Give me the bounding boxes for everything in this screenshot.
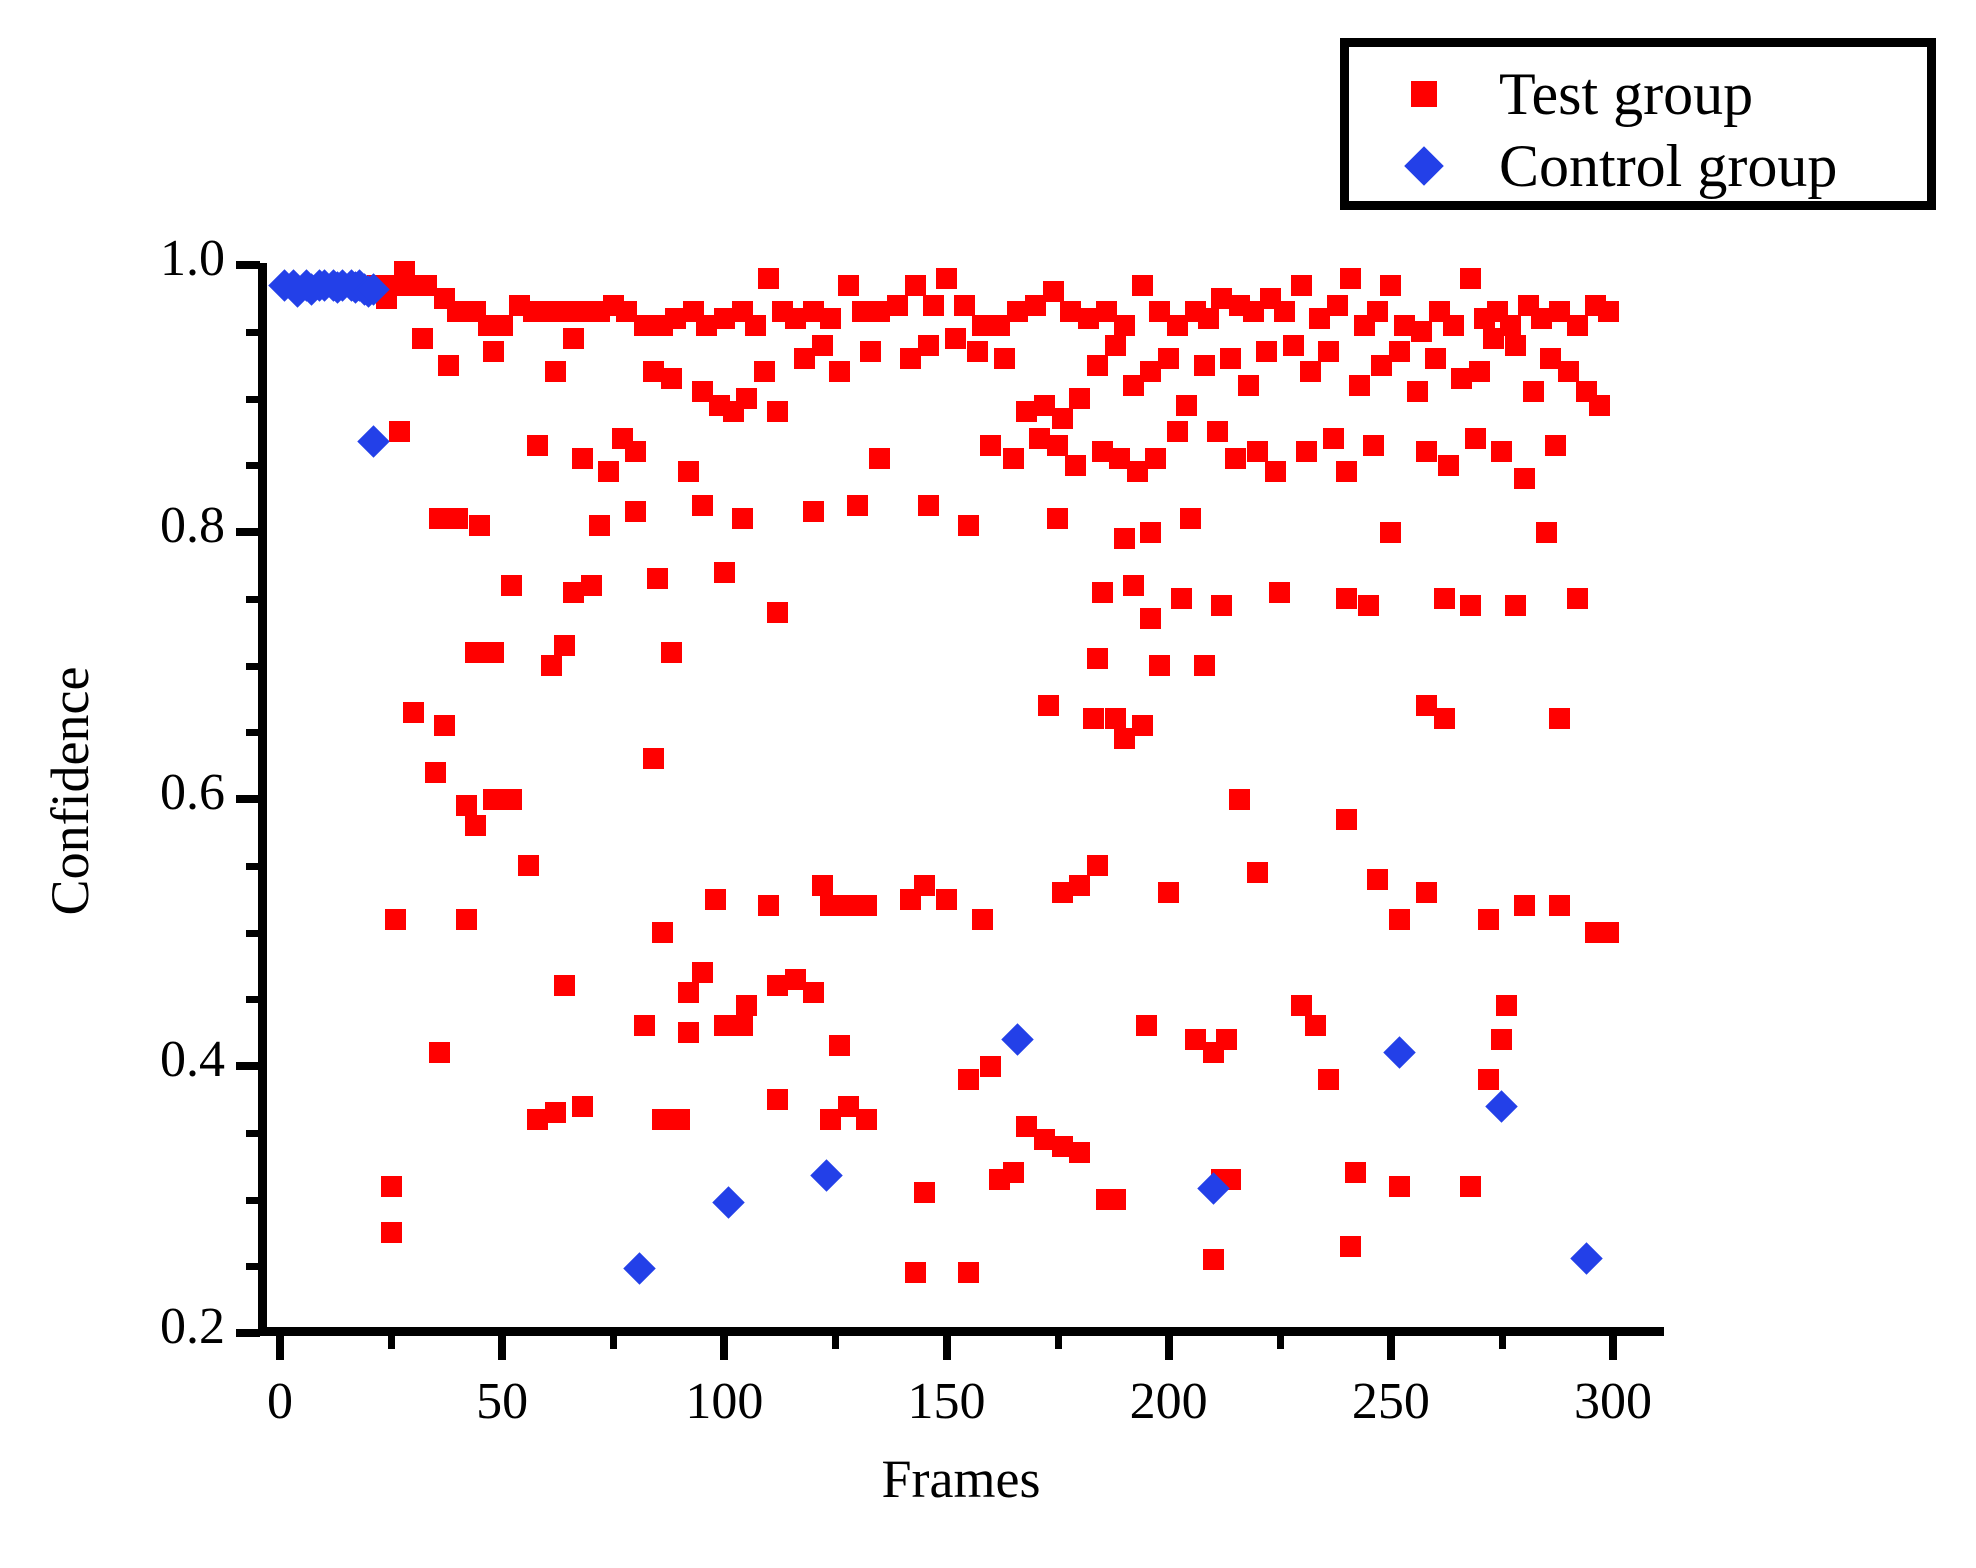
data-point-test-group (581, 575, 602, 596)
data-point-test-group (856, 895, 877, 916)
data-point-test-group (1038, 695, 1059, 716)
data-point-test-group (598, 461, 619, 482)
data-point-test-group (456, 909, 477, 930)
data-point-test-group (678, 461, 699, 482)
data-point-test-group (1291, 275, 1312, 296)
data-point-test-group (1296, 441, 1317, 462)
data-point-test-group (1434, 708, 1455, 729)
data-point-test-group (1469, 361, 1490, 382)
data-point-test-group (1340, 268, 1361, 289)
data-point-test-group (1194, 355, 1215, 376)
data-point-test-group (958, 515, 979, 536)
data-point-test-group (1389, 1176, 1410, 1197)
data-point-test-group (1256, 341, 1277, 362)
data-point-test-group (1367, 869, 1388, 890)
data-point-test-group (1438, 455, 1459, 476)
data-point-test-group (1496, 995, 1517, 1016)
data-point-test-group (434, 715, 455, 736)
data-point-test-group (1380, 522, 1401, 543)
data-point-test-group (1047, 435, 1068, 456)
data-point-test-group (1247, 441, 1268, 462)
data-point-test-group (829, 1035, 850, 1056)
data-point-test-group (767, 401, 788, 422)
data-point-test-group (1269, 582, 1290, 603)
data-point-test-group (1416, 441, 1437, 462)
data-point-test-group (643, 748, 664, 769)
data-point-test-group (869, 448, 890, 469)
data-point-test-group (501, 789, 522, 810)
data-point-test-group (1465, 428, 1486, 449)
x-tick-label: 0 (170, 1372, 390, 1431)
data-point-test-group (469, 515, 490, 536)
data-point-test-group (1083, 708, 1104, 729)
y-tick-minor (246, 329, 260, 336)
data-point-test-group (994, 348, 1015, 369)
data-point-test-group (1167, 421, 1188, 442)
x-tick-major (1609, 1334, 1617, 1360)
data-point-test-group (1549, 708, 1570, 729)
data-point-test-group (1505, 595, 1526, 616)
legend-square-marker-icon (1349, 81, 1499, 107)
data-point-test-group (1363, 435, 1384, 456)
y-tick-major (236, 528, 260, 536)
data-point-test-group (1158, 348, 1179, 369)
data-point-test-group (492, 315, 513, 336)
x-tick-minor (832, 1334, 839, 1349)
data-point-test-group (652, 922, 673, 943)
y-axis-title: Confidence (39, 551, 101, 1031)
data-point-test-group (1211, 595, 1232, 616)
data-point-test-group (1460, 595, 1481, 616)
data-point-test-group (1505, 335, 1526, 356)
data-point-test-group (745, 315, 766, 336)
x-tick-label: 150 (837, 1372, 1057, 1431)
data-point-test-group (1283, 335, 1304, 356)
x-axis-title: Frames (258, 1448, 1664, 1510)
y-tick-minor (246, 1263, 260, 1270)
data-point-test-group (1536, 522, 1557, 543)
data-point-test-group (812, 335, 833, 356)
data-point-test-group (412, 328, 433, 349)
data-point-test-group (381, 1176, 402, 1197)
data-point-test-group (1247, 862, 1268, 883)
data-point-test-group (1194, 655, 1215, 676)
data-point-test-group (647, 568, 668, 589)
data-point-test-group (1389, 909, 1410, 930)
plot-area (258, 265, 1662, 1333)
data-point-test-group (754, 361, 775, 382)
data-point-test-group (905, 1262, 926, 1283)
data-point-test-group (1171, 588, 1192, 609)
data-point-test-group (1087, 648, 1108, 669)
data-point-test-group (812, 875, 833, 896)
data-point-test-group (1389, 341, 1410, 362)
data-point-test-group (518, 855, 539, 876)
data-point-test-group (1105, 1189, 1126, 1210)
y-tick-minor (246, 396, 260, 403)
x-tick-label: 200 (1059, 1372, 1279, 1431)
data-point-test-group (661, 368, 682, 389)
data-point-test-group (1105, 708, 1126, 729)
data-point-test-group (767, 1089, 788, 1110)
data-point-test-group (1336, 809, 1357, 830)
data-point-test-group (860, 341, 881, 362)
data-point-test-group (1407, 381, 1428, 402)
data-point-test-group (678, 1022, 699, 1043)
data-point-test-group (1043, 281, 1064, 302)
data-point-test-group (1434, 588, 1455, 609)
data-point-test-group (545, 361, 566, 382)
data-point-test-group (1598, 301, 1619, 322)
data-point-test-group (732, 508, 753, 529)
data-point-test-group (1380, 275, 1401, 296)
data-point-test-group (1003, 1162, 1024, 1183)
data-point-test-group (1523, 381, 1544, 402)
data-point-test-group (1158, 882, 1179, 903)
data-point-test-group (1220, 348, 1241, 369)
data-point-test-group (381, 1222, 402, 1243)
legend: Test group Control group (1340, 38, 1936, 210)
data-point-test-group (1567, 315, 1588, 336)
data-point-test-group (1411, 321, 1432, 342)
data-point-test-group (1114, 528, 1135, 549)
data-point-test-group (829, 361, 850, 382)
data-point-test-group (803, 982, 824, 1003)
legend-label-test-group: Test group (1499, 60, 1753, 129)
data-point-test-group (918, 335, 939, 356)
data-point-control-group (810, 1159, 843, 1192)
data-point-test-group (1478, 909, 1499, 930)
data-point-test-group (838, 275, 859, 296)
x-tick-major (943, 1334, 951, 1360)
data-point-control-group (624, 1253, 657, 1286)
data-point-test-group (1318, 1069, 1339, 1090)
data-point-test-group (1087, 355, 1108, 376)
y-tick-label: 0.6 (0, 763, 225, 822)
data-point-test-group (1274, 301, 1295, 322)
data-point-test-group (905, 275, 926, 296)
data-point-test-group (554, 975, 575, 996)
data-point-test-group (1145, 448, 1166, 469)
data-point-test-group (1545, 435, 1566, 456)
data-point-test-group (736, 995, 757, 1016)
x-tick-minor (1499, 1334, 1506, 1349)
data-point-test-group (980, 435, 1001, 456)
data-point-test-group (1136, 1015, 1157, 1036)
data-point-test-group (1198, 308, 1219, 329)
data-point-test-group (1069, 388, 1090, 409)
data-point-test-group (936, 268, 957, 289)
x-tick-major (1165, 1334, 1173, 1360)
y-tick-label: 0.4 (0, 1030, 225, 1089)
data-point-test-group (501, 575, 522, 596)
data-point-test-group (1425, 348, 1446, 369)
data-point-test-group (1558, 361, 1579, 382)
x-tick-major (276, 1334, 284, 1360)
data-point-test-group (958, 1069, 979, 1090)
data-point-test-group (589, 515, 610, 536)
x-tick-minor (1277, 1334, 1284, 1349)
data-point-test-group (1065, 455, 1086, 476)
y-tick-label: 0.2 (0, 1297, 225, 1356)
data-point-test-group (456, 795, 477, 816)
y-tick-minor (246, 930, 260, 937)
data-point-test-group (1216, 1029, 1237, 1050)
data-point-test-group (1491, 1029, 1512, 1050)
data-point-test-group (736, 388, 757, 409)
y-tick-minor (246, 462, 260, 469)
data-point-control-group (1383, 1036, 1416, 1069)
data-point-test-group (1514, 895, 1535, 916)
data-point-test-group (385, 909, 406, 930)
data-point-test-group (1132, 715, 1153, 736)
data-point-test-group (914, 875, 935, 896)
data-point-test-group (967, 341, 988, 362)
x-tick-label: 50 (392, 1372, 612, 1431)
x-tick-minor (388, 1334, 395, 1349)
data-point-test-group (678, 982, 699, 1003)
data-point-test-group (1549, 895, 1570, 916)
data-point-test-group (1318, 341, 1339, 362)
data-point-test-group (1123, 575, 1144, 596)
data-point-test-group (1092, 582, 1113, 603)
x-tick-minor (1055, 1334, 1062, 1349)
data-point-test-group (1567, 588, 1588, 609)
data-point-test-group (1003, 448, 1024, 469)
data-point-test-group (1349, 375, 1370, 396)
data-point-test-group (425, 762, 446, 783)
data-point-test-group (714, 562, 735, 583)
data-point-test-group (1478, 1069, 1499, 1090)
y-tick-minor (246, 1197, 260, 1204)
data-point-test-group (1225, 448, 1246, 469)
data-point-test-group (758, 268, 779, 289)
data-point-test-group (572, 1096, 593, 1117)
data-point-test-group (625, 501, 646, 522)
data-point-control-group (1001, 1023, 1034, 1056)
data-point-test-group (1358, 595, 1379, 616)
y-tick-minor (246, 1130, 260, 1137)
data-point-test-group (1336, 588, 1357, 609)
data-point-test-group (563, 328, 584, 349)
data-point-test-group (958, 1262, 979, 1283)
data-point-test-group (625, 441, 646, 462)
data-point-test-group (1291, 995, 1312, 1016)
data-point-test-group (1327, 295, 1348, 316)
data-point-test-group (527, 435, 548, 456)
data-point-test-group (1460, 1176, 1481, 1197)
data-point-test-group (923, 295, 944, 316)
data-point-test-group (1345, 1162, 1366, 1183)
legend-diamond-marker-icon (1349, 152, 1499, 180)
data-point-test-group (1300, 361, 1321, 382)
x-tick-major (720, 1334, 728, 1360)
data-point-test-group (692, 495, 713, 516)
data-point-test-group (1491, 441, 1512, 462)
data-point-test-group (1114, 315, 1135, 336)
data-point-test-group (732, 1015, 753, 1036)
data-point-test-group (1340, 1236, 1361, 1257)
y-tick-minor (246, 596, 260, 603)
data-point-test-group (936, 889, 957, 910)
data-point-test-group (705, 889, 726, 910)
data-point-test-group (692, 962, 713, 983)
data-point-test-group (1105, 335, 1126, 356)
data-point-test-group (1140, 522, 1161, 543)
data-point-test-group (1589, 395, 1610, 416)
data-point-test-group (1443, 315, 1464, 336)
y-tick-major (236, 1062, 260, 1070)
data-point-test-group (945, 328, 966, 349)
data-point-test-group (1598, 922, 1619, 943)
data-point-test-group (1265, 461, 1286, 482)
y-tick-minor (246, 863, 260, 870)
y-tick-major (236, 795, 260, 803)
data-point-test-group (1140, 608, 1161, 629)
data-point-test-group (389, 421, 410, 442)
data-point-test-group (545, 1102, 566, 1123)
data-point-test-group (1305, 1015, 1326, 1036)
data-point-test-group (847, 495, 868, 516)
data-point-test-group (447, 508, 468, 529)
data-point-test-group (820, 308, 841, 329)
data-point-test-group (1180, 508, 1201, 529)
data-point-test-group (1238, 375, 1259, 396)
data-point-test-group (1047, 508, 1068, 529)
data-point-test-group (483, 341, 504, 362)
data-point-test-group (767, 602, 788, 623)
legend-entry-test-group: Test group (1349, 55, 1927, 133)
data-point-test-group (1149, 655, 1170, 676)
y-tick-label: 1.0 (0, 229, 225, 288)
data-point-test-group (887, 295, 908, 316)
data-point-test-group (856, 1109, 877, 1130)
data-point-test-group (541, 655, 562, 676)
data-point-test-group (1483, 328, 1504, 349)
data-point-test-group (483, 642, 504, 663)
data-point-test-group (438, 355, 459, 376)
x-tick-major (1387, 1334, 1395, 1360)
x-tick-major (498, 1334, 506, 1360)
data-point-test-group (1416, 882, 1437, 903)
data-point-test-group (465, 815, 486, 836)
x-tick-label: 300 (1503, 1372, 1723, 1431)
data-point-test-group (1514, 468, 1535, 489)
data-point-test-group (1132, 275, 1153, 296)
data-point-control-group (357, 425, 390, 458)
legend-entry-control-group: Control group (1349, 127, 1927, 205)
x-axis-line (258, 1327, 1664, 1336)
y-tick-major (236, 261, 260, 269)
data-point-control-group (1486, 1090, 1519, 1123)
data-point-test-group (972, 909, 993, 930)
y-tick-minor (246, 663, 260, 670)
data-point-test-group (572, 448, 593, 469)
data-point-test-group (661, 642, 682, 663)
data-point-test-group (1069, 1142, 1090, 1163)
data-point-test-group (1336, 461, 1357, 482)
data-point-test-group (914, 1182, 935, 1203)
data-point-test-group (1229, 789, 1250, 810)
data-point-test-group (1207, 421, 1228, 442)
y-tick-major (236, 1329, 260, 1337)
data-point-test-group (1052, 408, 1073, 429)
x-tick-label: 250 (1281, 1372, 1501, 1431)
chart-root: 0.20.40.60.81.0 050100150200250300 Confi… (0, 0, 1976, 1568)
data-point-test-group (669, 1109, 690, 1130)
data-point-test-group (1367, 301, 1388, 322)
data-point-test-group (554, 635, 575, 656)
data-point-test-group (1069, 875, 1090, 896)
data-point-test-group (918, 495, 939, 516)
x-tick-minor (610, 1334, 617, 1349)
data-point-test-group (1460, 268, 1481, 289)
data-point-test-group (954, 295, 975, 316)
data-point-test-group (403, 702, 424, 723)
data-point-test-group (429, 1042, 450, 1063)
data-point-test-group (1203, 1249, 1224, 1270)
y-tick-label: 0.8 (0, 496, 225, 555)
data-point-test-group (803, 501, 824, 522)
data-point-test-group (1087, 855, 1108, 876)
x-tick-label: 100 (614, 1372, 834, 1431)
data-point-control-group (1570, 1242, 1603, 1275)
legend-label-control-group: Control group (1499, 132, 1837, 201)
data-point-test-group (758, 895, 779, 916)
y-tick-minor (246, 996, 260, 1003)
data-point-test-group (1323, 428, 1344, 449)
y-tick-minor (246, 729, 260, 736)
data-point-test-group (980, 1056, 1001, 1077)
data-point-test-group (634, 1015, 655, 1036)
data-point-test-group (1176, 395, 1197, 416)
data-point-control-group (713, 1186, 746, 1219)
